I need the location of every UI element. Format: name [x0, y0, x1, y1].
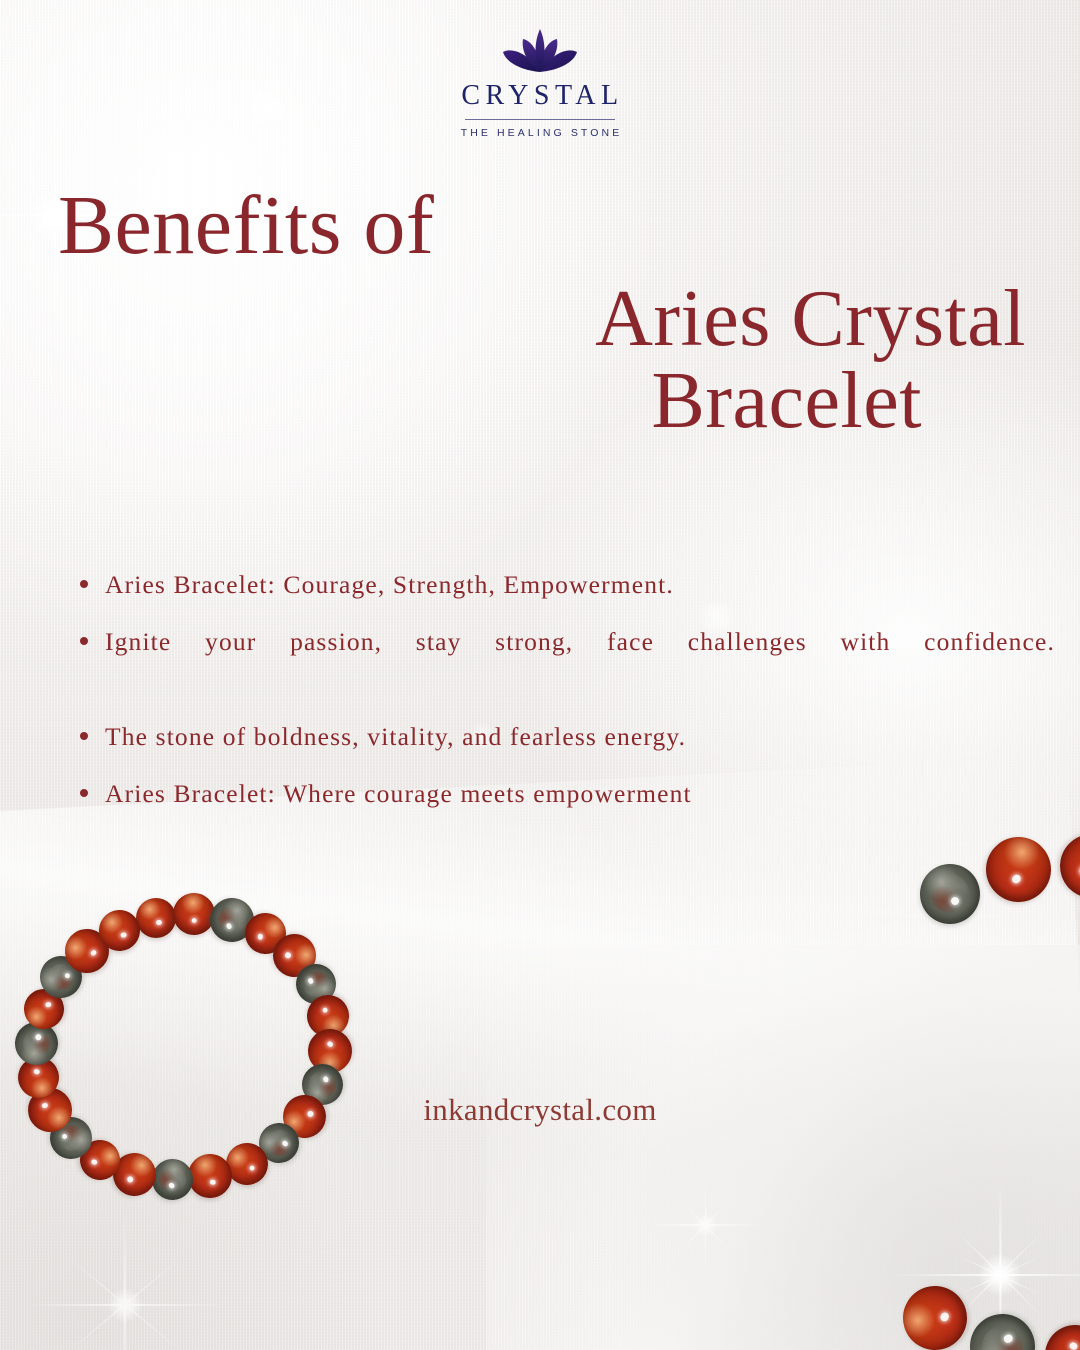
- bullet-dot-icon: [80, 580, 88, 588]
- list-item: Aries Bracelet: Courage, Strength, Empow…: [80, 566, 1055, 605]
- bracelet-bead: [1035, 1315, 1080, 1350]
- list-item-text: Aries Bracelet: Where courage meets empo…: [105, 775, 1055, 814]
- bracelet-bead: [961, 1305, 1044, 1350]
- bracelet-bead: [892, 1274, 979, 1350]
- bracelet-bead: [136, 898, 176, 938]
- lotus-icon: [498, 26, 582, 74]
- list-item: The stone of boldness, vitality, and fea…: [80, 718, 1055, 757]
- bullet-dot-icon: [80, 732, 88, 740]
- brand-divider: [465, 119, 615, 120]
- list-item: Aries Bracelet: Where courage meets empo…: [80, 775, 1055, 814]
- bracelet-bead: [920, 864, 980, 924]
- headline-line-1: Benefits of: [58, 186, 1030, 267]
- brand-tagline: THE HEALING STONE: [458, 127, 623, 139]
- poster-canvas: CRYSTAL THE HEALING STONE Benefits of Ar…: [0, 0, 1080, 1350]
- list-item-text: Aries Bracelet: Courage, Strength, Empow…: [105, 566, 1055, 605]
- headline-line-2: Aries Crystal: [58, 281, 1030, 358]
- headline-line-3: Bracelet: [58, 363, 1030, 440]
- bullet-dot-icon: [80, 789, 88, 797]
- product-image-right-bracelet: [735, 885, 1080, 1350]
- list-item-text: Ignite your passion, stay strong, face c…: [105, 623, 1055, 701]
- page-title: Benefits of Aries Crystal Bracelet: [58, 186, 1030, 440]
- product-image-left-bracelet: [5, 885, 365, 1215]
- list-item-text: The stone of boldness, vitality, and fea…: [105, 718, 1055, 757]
- brand-name: CRYSTAL: [456, 82, 623, 110]
- brand-logo: CRYSTAL THE HEALING STONE: [0, 26, 1080, 139]
- benefits-list: Aries Bracelet: Courage, Strength, Empow…: [80, 566, 1055, 832]
- bullet-dot-icon: [80, 637, 88, 645]
- list-item: Ignite your passion, stay strong, face c…: [80, 623, 1055, 701]
